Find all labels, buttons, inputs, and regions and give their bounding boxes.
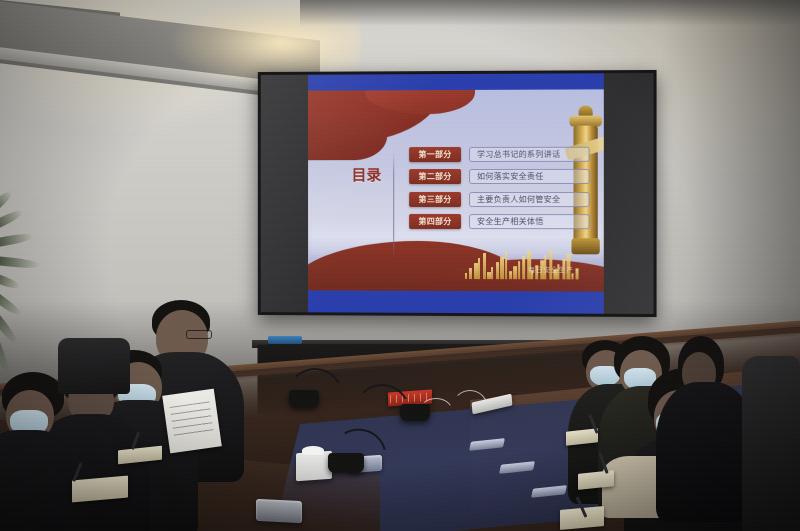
skyline-building: [500, 257, 504, 279]
huabiao-base: [571, 238, 599, 254]
section-tag: 第三部分: [409, 191, 461, 206]
skyline-building: [576, 268, 579, 279]
section-tag: 第二部分: [409, 169, 461, 184]
mic-base: [328, 453, 364, 473]
section-text: 主要负责人如何管安全: [469, 191, 590, 206]
tissue-box[interactable]: [296, 451, 332, 482]
list-item: 第一部分 学习总书记的系列讲话: [409, 146, 590, 162]
skyline-building: [509, 271, 512, 279]
section-text: 如何落实安全责任: [469, 169, 590, 184]
meeting-room-photo: 目录 第一部分 学习总书记的系列讲话 第二部分 如何落实安全责任 第三部分 主要…: [0, 0, 800, 531]
slide-watermark: 每日安全生产: [528, 265, 573, 275]
skyline-building: [505, 252, 507, 279]
palm-frond: [0, 207, 25, 233]
blue-object-on-credenza: [268, 336, 302, 344]
display-inactive-right: [604, 73, 654, 314]
section-text: 安全生产相关体悟: [469, 214, 590, 229]
glass-ashtray[interactable]: [256, 499, 302, 523]
skyline-building: [518, 261, 520, 279]
skyline-building: [491, 267, 493, 279]
executive-office-chair[interactable]: [742, 356, 800, 531]
skyline-building: [483, 253, 486, 279]
slide-contents-list: 第一部分 学习总书记的系列讲话 第二部分 如何落实安全责任 第三部分 主要负责人…: [409, 146, 590, 237]
skyline-building: [465, 273, 467, 279]
palm-frond: [0, 270, 21, 291]
list-item: 第四部分 安全生产相关体悟: [409, 213, 590, 229]
section-tag: 第四部分: [409, 214, 461, 229]
palm-frond: [0, 255, 41, 270]
display-inactive-left: [261, 75, 308, 312]
skyline-building: [474, 263, 478, 279]
document-lines: [170, 401, 214, 440]
skyline-building: [522, 256, 525, 279]
mic-base: [400, 404, 430, 421]
skyline-building: [496, 262, 499, 279]
palm-frond: [0, 232, 34, 249]
skyline-building: [478, 258, 480, 279]
title-divider: [393, 152, 394, 258]
slide-title: 目录: [352, 168, 382, 184]
section-tag: 第一部分: [409, 146, 461, 161]
palm-frond: [0, 286, 23, 319]
tissue-sheet: [302, 446, 324, 455]
red-flag-graphic-tertiary: [308, 116, 387, 160]
executive-office-chair[interactable]: [58, 338, 130, 394]
mic-base: [289, 390, 319, 407]
potted-palm-plant: [0, 196, 56, 356]
skyline-building: [469, 268, 472, 279]
list-item: 第三部分 主要负责人如何管安全: [409, 191, 590, 207]
list-item: 第二部分 如何落实安全责任: [409, 168, 590, 184]
slide-canvas: 目录 第一部分 学习总书记的系列讲话 第二部分 如何落实安全责任 第三部分 主要…: [308, 89, 604, 291]
section-text: 学习总书记的系列讲话: [469, 146, 590, 161]
skyline-building: [513, 266, 517, 279]
torso: [656, 382, 756, 522]
eyeglasses-icon: [186, 330, 212, 339]
wall-mounted-display[interactable]: 目录 第一部分 学习总书记的系列讲话 第二部分 如何落实安全责任 第三部分 主要…: [258, 70, 657, 317]
presentation-slide: 目录 第一部分 学习总书记的系列讲话 第二部分 如何落实安全责任 第三部分 主要…: [308, 73, 604, 314]
